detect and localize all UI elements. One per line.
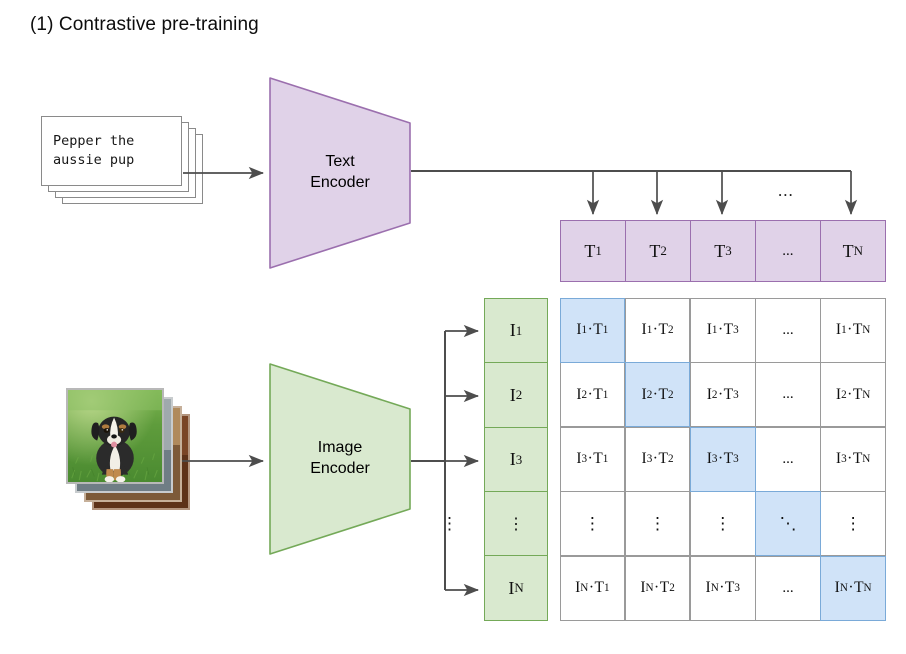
image-embedding-column: I1I2I3⋮IN [484,298,548,621]
similarity-row-ellipsis: ... [755,362,821,427]
text-card-front: Pepper theaussie pup [41,116,182,186]
puppy-photo-illustration [68,390,162,482]
similarity-cell-iN-t2: IN·T2 [625,556,691,621]
similarity-row-ellipsis: ... [755,427,821,492]
similarity-cell-i1-t2: I1·T2 [625,298,691,363]
text-encoder-label: Text Encoder [269,151,411,193]
image-encoder-block: Image Encoder [269,363,411,555]
page-title: (1) Contrastive pre-training [30,14,259,36]
similarity-cell-iN-tN: IN·TN [820,556,886,621]
text-caption-label: Pepper theaussie pup [53,132,178,170]
similarity-diagonal-ellipsis: ⋱ [755,491,821,556]
photo-card-front-puppy [66,388,164,484]
similarity-cell-iN-t1: IN·T1 [560,556,626,621]
similarity-matrix: I1·T1I1·T2I1·T3...I1·TNI2·T1I2·T2I2·T3..… [560,298,886,621]
caption-line-1: Pepper the [53,133,134,149]
image-embedding-cell-1: I1 [484,298,548,364]
text-caption-card-stack: Pepper theaussie pup [41,116,216,204]
similarity-cell-i1-tN: I1·TN [820,298,886,363]
similarity-cell-i2-t2: I2·T2 [625,362,691,427]
text-embedding-ellipsis: ... [755,220,821,282]
text-embedding-row: T1T2T3...TN [560,220,886,282]
similarity-cell-i3-t1: I3·T1 [560,427,626,492]
text-embedding-cell-2: T2 [625,220,691,282]
similarity-cell-i3-t3: I3·T3 [690,427,756,492]
similarity-cell-i2-t1: I2·T1 [560,362,626,427]
text-embedding-cell-3: T3 [690,220,756,282]
text-encoder-label-line1: Text [269,151,411,172]
text-embedding-cell-N: TN [820,220,886,282]
top-bus-ellipsis: ... [778,181,794,201]
similarity-col-ellipsis: ⋮ [625,491,691,556]
similarity-cell-i1-t1: I1·T1 [560,298,626,363]
contrastive-pretraining-figure: (1) Contrastive pre-training Pepper thea… [0,0,906,654]
left-bus-ellipsis: ⋮ [441,514,458,534]
similarity-col-ellipsis: ⋮ [690,491,756,556]
similarity-cell-iN-t3: IN·T3 [690,556,756,621]
image-embedding-cell-3: I3 [484,427,548,493]
similarity-cell-i2-t3: I2·T3 [690,362,756,427]
similarity-col-ellipsis: ⋮ [820,491,886,556]
image-encoder-label-line1: Image [269,437,411,458]
similarity-cell-i3-t2: I3·T2 [625,427,691,492]
image-embedding-ellipsis: ⋮ [484,491,548,557]
image-embedding-cell-N: IN [484,555,548,621]
image-encoder-label-line2: Encoder [269,458,411,479]
similarity-cell-i1-t3: I1·T3 [690,298,756,363]
text-embedding-cell-1: T1 [560,220,626,282]
similarity-col-ellipsis: ⋮ [560,491,626,556]
similarity-cell-i2-tN: I2·TN [820,362,886,427]
similarity-cell-i3-tN: I3·TN [820,427,886,492]
text-encoder-block: Text Encoder [269,77,411,269]
text-encoder-label-line2: Encoder [269,172,411,193]
similarity-row-ellipsis: ... [755,298,821,363]
image-embedding-cell-2: I2 [484,362,548,428]
caption-line-2: aussie pup [53,152,134,168]
image-encoder-label: Image Encoder [269,437,411,479]
image-card-stack [66,388,196,513]
similarity-row-ellipsis: ... [755,556,821,621]
